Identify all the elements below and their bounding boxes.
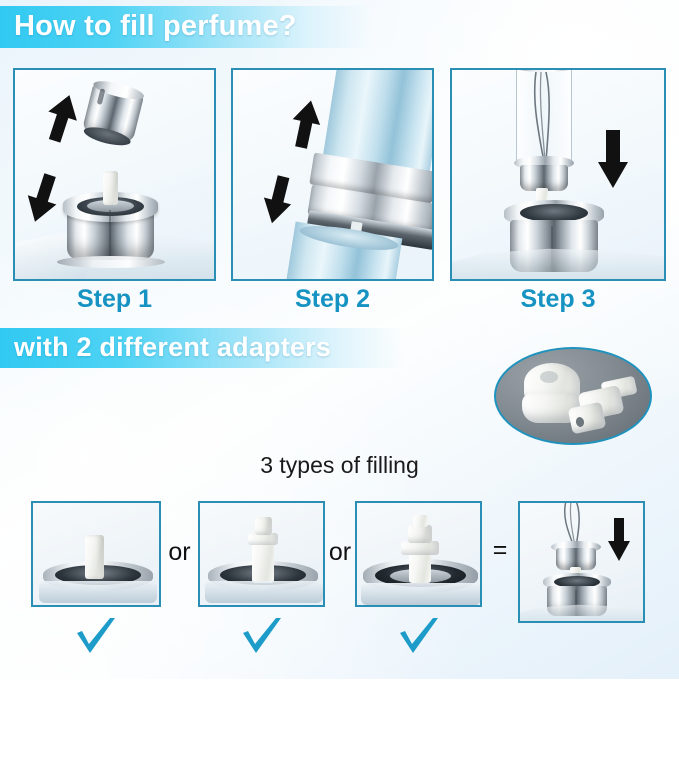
step-1-label: Step 1 [13, 285, 216, 314]
filling-option-1 [31, 501, 161, 607]
step-3-illustration [450, 68, 666, 281]
separator-equals: = [482, 536, 518, 565]
chrome-base-plate [57, 256, 165, 268]
separator-or-2: or [325, 538, 355, 567]
check-mark-1-icon [73, 617, 119, 657]
separator-or-1: or [161, 538, 198, 567]
adapter-cross-flange [401, 541, 439, 555]
inner-tubes [512, 70, 576, 166]
page-title-text: How to fill perfume? [14, 10, 297, 43]
arrow-down-icon [23, 170, 63, 225]
arrow-down-icon [259, 172, 297, 226]
white-nozzle-stem [103, 171, 118, 205]
collar-base [39, 581, 157, 603]
adapter-top-cap [255, 517, 272, 535]
collar-base [205, 581, 323, 603]
filling-option-2 [198, 501, 325, 607]
step-3-label: Step 3 [450, 285, 666, 314]
chrome-pump-collar [63, 180, 158, 265]
white-nozzle-stem [85, 535, 104, 579]
white-nozzle-stem [252, 543, 274, 583]
white-nozzle-stem [409, 553, 431, 583]
arrow-up-icon [42, 92, 82, 144]
atomizer-collar [514, 156, 574, 192]
step-1-illustration [13, 68, 216, 281]
collar-base [361, 583, 481, 605]
page-title: How to fill perfume? [0, 6, 372, 48]
chrome-cap [82, 82, 145, 143]
filling-option-3 [355, 501, 482, 607]
adapter-cross-top [413, 515, 428, 527]
step-2-label: Step 2 [231, 285, 434, 314]
adapters-banner-text: with 2 different adapters [14, 332, 331, 363]
arrow-up-icon [287, 98, 325, 150]
arrow-down-icon [606, 515, 632, 563]
check-mark-3-icon [396, 617, 442, 657]
check-mark-2-icon [239, 617, 285, 657]
adapters-photo [494, 347, 652, 445]
adapters-banner: with 2 different adapters [0, 328, 404, 368]
step-2-illustration [231, 68, 434, 281]
arrow-down-icon [595, 126, 631, 190]
cross-shaped-adapter [570, 373, 640, 435]
filling-result [518, 501, 645, 623]
filling-heading: 3 types of filling [0, 452, 679, 479]
adapter-cross-body [408, 525, 432, 543]
bokeh-circle [0, 620, 140, 770]
